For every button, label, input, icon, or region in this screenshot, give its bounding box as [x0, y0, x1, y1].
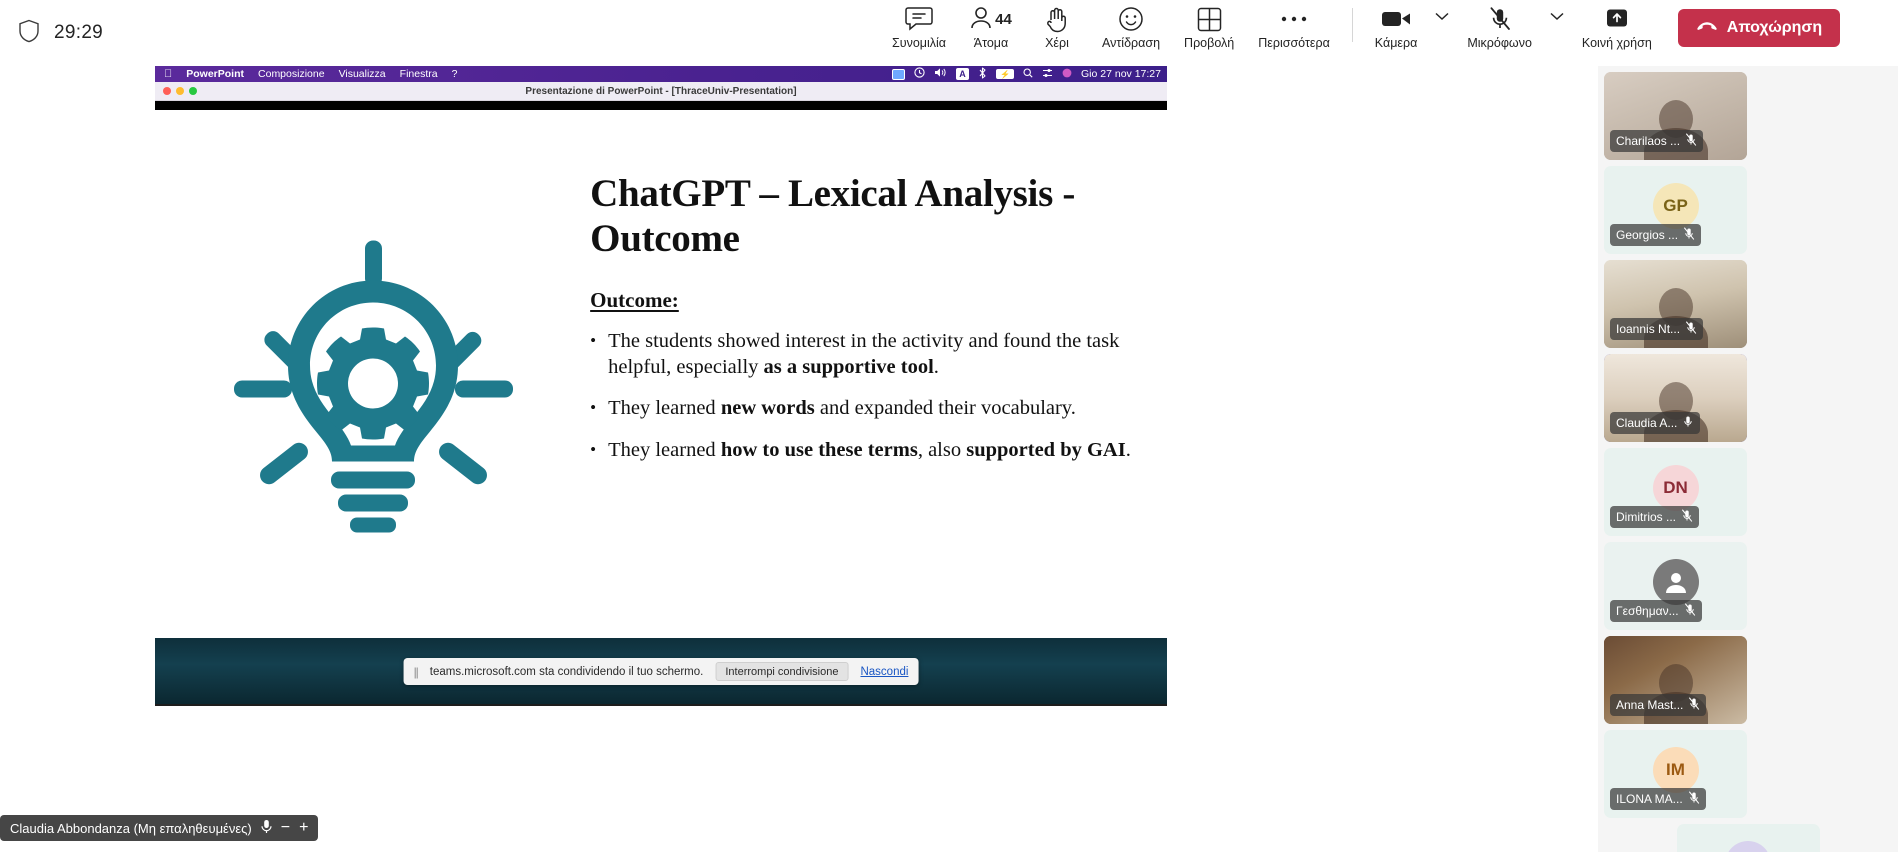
microphone-group: Μικρόφωνο	[1455, 0, 1570, 50]
siri-icon[interactable]	[1062, 68, 1072, 81]
mic-off-icon	[1685, 321, 1697, 338]
lightbulb-gear-icon	[228, 232, 518, 537]
participant-name: Γεσθημαν...	[1616, 604, 1679, 618]
volume-icon[interactable]	[934, 67, 947, 81]
microphone-button[interactable]: Μικρόφωνο	[1455, 0, 1544, 50]
shield-icon	[18, 19, 40, 48]
avatar: IM	[1653, 747, 1699, 793]
mic-off-icon	[1681, 509, 1693, 526]
raise-hand-button[interactable]: Χέρι	[1024, 0, 1090, 50]
chat-button[interactable]: Συνομιλία	[880, 0, 958, 50]
time-machine-icon[interactable]	[914, 67, 925, 81]
slide-bullet-text: The students showed interest in the acti…	[608, 329, 1131, 381]
mic-off-icon	[1688, 791, 1700, 808]
more-label: Περισσότερα	[1258, 36, 1330, 50]
shared-screen-view[interactable]:  PowerPoint Composizione Visualizza Fin…	[155, 66, 1167, 706]
menu-finestra[interactable]: Finestra	[400, 68, 438, 80]
more-button[interactable]: Περισσότερα	[1246, 0, 1342, 50]
emoji-icon	[1118, 4, 1144, 34]
slide-bullet: •They learned how to use these terms, al…	[590, 438, 1131, 464]
share-banner-message: teams.microsoft.com sta condividendo il …	[430, 666, 704, 678]
participant-name-badge: Dimitrios ...	[1610, 506, 1699, 528]
view-button[interactable]: Προβολή	[1172, 0, 1246, 50]
people-icon: 44	[970, 4, 1012, 34]
slide-graphic-area	[155, 110, 590, 638]
leave-call-button[interactable]: Αποχώρηση	[1678, 9, 1840, 47]
mic-off-icon	[1684, 603, 1696, 620]
call-timer: 29:29	[54, 22, 103, 44]
avatar: GP	[1653, 183, 1699, 229]
mic-icon	[1682, 415, 1694, 432]
participant-name-badge: Claudia A...	[1610, 412, 1700, 434]
maximize-window-icon[interactable]	[189, 87, 197, 95]
participant-name-badge: ILONA MA...	[1610, 788, 1706, 810]
input-language-icon[interactable]: A	[956, 68, 969, 80]
self-name: Claudia Abbondanza (Μη επαληθευμένες)	[10, 821, 252, 836]
toolbar-divider	[1352, 8, 1353, 42]
macos-menu-bar:  PowerPoint Composizione Visualizza Fin…	[155, 66, 1167, 82]
menu-visualizza[interactable]: Visualizza	[339, 68, 386, 80]
zoom-out-button[interactable]: −	[281, 820, 290, 836]
camera-button[interactable]: Κάμερα	[1363, 0, 1430, 50]
participant-tile[interactable]: GGL (Μη επ...	[1677, 824, 1820, 852]
people-button[interactable]: 44 Άτομα	[958, 0, 1024, 50]
participant-name: Charilaos ...	[1616, 134, 1680, 148]
participant-name-badge: Anna Mast...	[1610, 694, 1706, 716]
menu-composizione[interactable]: Composizione	[258, 68, 325, 80]
participant-name-badge: Charilaos ...	[1610, 130, 1703, 152]
participant-tile[interactable]: Ioannis Nt...	[1604, 260, 1747, 348]
participant-tile[interactable]: GPGeorgios ...	[1604, 166, 1747, 254]
bullet-dot-icon: •	[590, 396, 596, 422]
ellipsis-icon	[1280, 4, 1308, 34]
participant-tile[interactable]: DNDimitrios ...	[1604, 448, 1747, 536]
avatar: DN	[1653, 465, 1699, 511]
participant-tile[interactable]: IMILONA MA...	[1604, 730, 1747, 818]
window-title: Presentazione di PowerPoint - [ThraceUni…	[525, 86, 796, 97]
participant-tile[interactable]: Anna Mast...	[1604, 636, 1747, 724]
participant-name-badge: Γεσθημαν...	[1610, 600, 1702, 622]
bullet-dot-icon: •	[590, 438, 596, 464]
mic-off-icon	[1688, 697, 1700, 714]
slide-text-area: ChatGPT – Lexical Analysis - Outcome Out…	[590, 110, 1167, 638]
reaction-label: Αντίδραση	[1102, 36, 1160, 50]
stop-sharing-button[interactable]: Interrompi condivisione	[715, 662, 848, 681]
slide-bullet-text: They learned how to use these terms, als…	[608, 438, 1131, 464]
slide-title: ChatGPT – Lexical Analysis - Outcome	[590, 172, 1131, 262]
participant-name: Ioannis Nt...	[1616, 322, 1680, 336]
avatar	[1653, 559, 1699, 605]
participant-name: Anna Mast...	[1616, 698, 1683, 712]
bluetooth-icon[interactable]	[978, 67, 987, 82]
minimize-window-icon[interactable]	[176, 87, 184, 95]
camera-icon	[1381, 4, 1411, 34]
view-label: Προβολή	[1184, 36, 1234, 50]
share-screen-label: Κοινή χρήση	[1582, 36, 1652, 50]
participant-tile[interactable]: Γεσθημαν...	[1604, 542, 1747, 630]
slide-bullet: •The students showed interest in the act…	[590, 329, 1131, 381]
battery-icon[interactable]: ⚡	[996, 69, 1014, 79]
spotlight-icon[interactable]	[1023, 68, 1033, 81]
mic-off-icon	[1685, 133, 1697, 150]
participant-name: Georgios ...	[1616, 228, 1678, 242]
mic-icon[interactable]	[261, 819, 272, 838]
participant-grid: Charilaos ...GPGeorgios ...Ioannis Nt...…	[1604, 72, 1892, 852]
people-label: Άτομα	[974, 36, 1009, 50]
presentation-slide: ChatGPT – Lexical Analysis - Outcome Out…	[155, 110, 1167, 638]
participant-tile[interactable]: Charilaos ...	[1604, 72, 1747, 160]
slide-bullet-list: •The students showed interest in the act…	[590, 329, 1131, 464]
screen-share-banner: || teams.microsoft.com sta condividendo …	[404, 658, 919, 685]
slide-subheading: Outcome:	[590, 288, 1131, 313]
participant-name: Dimitrios ...	[1616, 510, 1676, 524]
mic-off-icon	[1683, 227, 1695, 244]
drag-handle-icon[interactable]: ||	[414, 665, 418, 679]
share-screen-icon	[1604, 4, 1630, 34]
share-screen-button[interactable]: Κοινή χρήση	[1570, 0, 1664, 50]
grid-view-icon	[1197, 4, 1222, 34]
camera-label: Κάμερα	[1375, 36, 1418, 50]
microphone-chevron-down-icon[interactable]	[1544, 12, 1570, 24]
close-window-icon[interactable]	[163, 87, 171, 95]
chat-icon	[905, 4, 933, 34]
slide-bottom-band: || teams.microsoft.com sta condividendo …	[155, 638, 1167, 704]
hangup-icon	[1696, 19, 1718, 37]
window-traffic-lights[interactable]	[163, 87, 197, 95]
self-participant-bar: Claudia Abbondanza (Μη επαληθευμένες) − …	[0, 815, 318, 841]
call-toolbar: 29:29 Συνομιλία 44 Άτομα Χέρι	[0, 0, 1898, 66]
slide-bullet: •They learned new words and expanded the…	[590, 396, 1131, 422]
slide-top-band	[155, 101, 1167, 110]
menu-powerpoint[interactable]: PowerPoint	[186, 68, 244, 80]
people-count: 44	[995, 11, 1012, 28]
chat-label: Συνομιλία	[892, 36, 946, 50]
microphone-label: Μικρόφωνο	[1467, 36, 1532, 50]
call-controls: Συνομιλία 44 Άτομα Χέρι Αντίδραση	[880, 0, 1840, 66]
camera-group: Κάμερα	[1363, 0, 1456, 50]
slide-bullet-text: They learned new words and expanded thei…	[608, 396, 1076, 422]
macos-datetime[interactable]: Gio 27 nov 17:27	[1081, 68, 1161, 80]
teams-meeting-window: 29:29 Συνομιλία 44 Άτομα Χέρι	[0, 0, 1898, 852]
meeting-stage:  PowerPoint Composizione Visualizza Fin…	[0, 66, 1598, 852]
camera-chevron-down-icon[interactable]	[1429, 12, 1455, 24]
participant-roster: Charilaos ...GPGeorgios ...Ioannis Nt...…	[1598, 66, 1898, 852]
zoom-in-button[interactable]: +	[299, 820, 308, 836]
call-status-group: 29:29	[0, 19, 300, 48]
raise-hand-label: Χέρι	[1045, 36, 1069, 50]
powerpoint-window-titlebar: Presentazione di PowerPoint - [ThraceUni…	[155, 82, 1167, 101]
apple-logo-icon[interactable]: 	[164, 68, 172, 80]
avatar: G	[1725, 841, 1771, 852]
participant-name-badge: Georgios ...	[1610, 224, 1701, 246]
screen-sharing-status-icon[interactable]	[892, 69, 905, 80]
mic-off-icon	[1488, 4, 1512, 34]
bullet-dot-icon: •	[590, 329, 596, 381]
participant-name: Claudia A...	[1616, 416, 1677, 430]
leave-call-label: Αποχώρηση	[1727, 19, 1822, 37]
participant-name: ILONA MA...	[1616, 792, 1683, 806]
hide-banner-link[interactable]: Nascondi	[860, 666, 908, 678]
menu-help[interactable]: ?	[452, 68, 458, 80]
raise-hand-icon	[1045, 4, 1069, 34]
control-center-icon[interactable]	[1042, 68, 1053, 81]
reaction-button[interactable]: Αντίδραση	[1090, 0, 1172, 50]
participant-tile[interactable]: Claudia A...	[1604, 354, 1747, 442]
participant-name-badge: Ioannis Nt...	[1610, 318, 1703, 340]
